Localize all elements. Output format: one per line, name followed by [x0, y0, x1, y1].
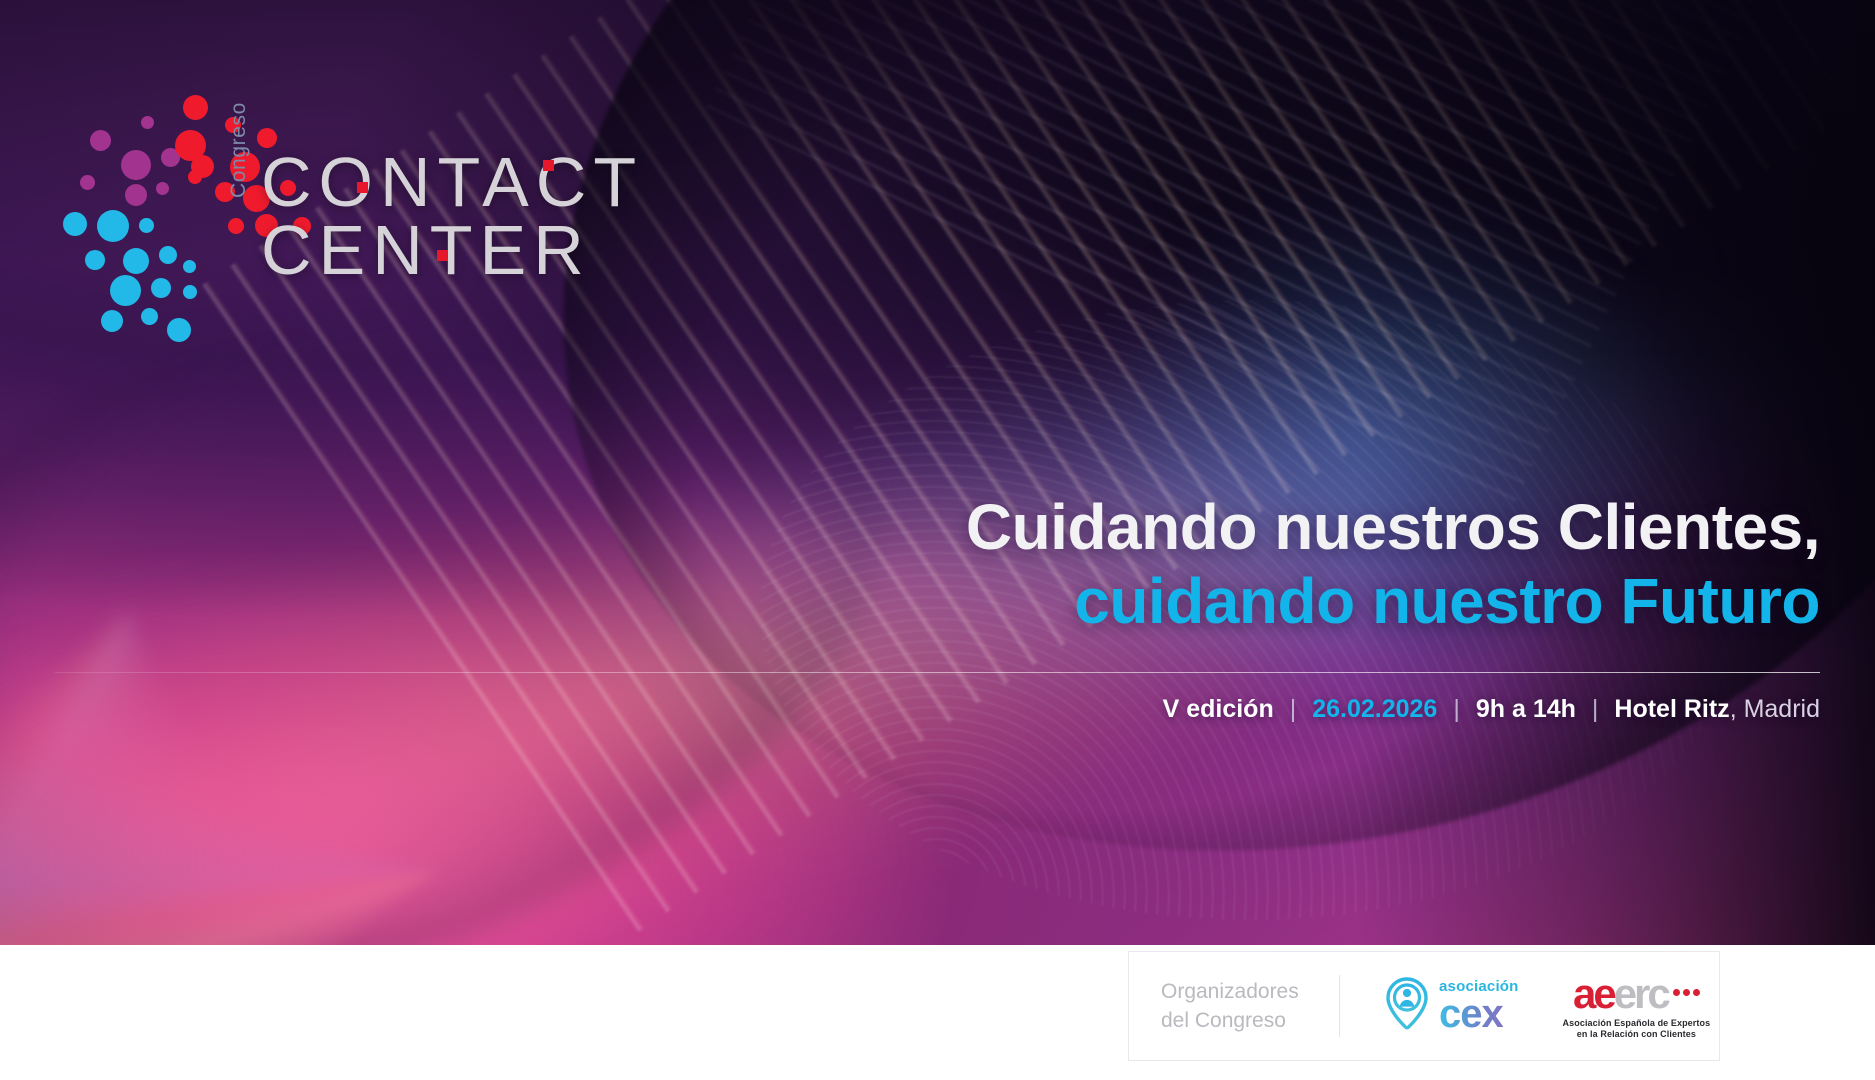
headline-line-1: Cuidando nuestros Clientes,	[760, 490, 1820, 564]
brand-logo[interactable]: Congreso CONTACT CENTER	[55, 70, 655, 335]
event-city: , Madrid	[1730, 695, 1820, 724]
brand-red-dot-icon	[437, 250, 448, 261]
aeerc-dots-icon	[1673, 989, 1700, 996]
brand-wordmark-line1: CONTACT	[261, 152, 643, 212]
hero-banner: Congreso CONTACT CENTER Cuidando nuestro…	[0, 0, 1875, 945]
aeerc-subtitle-line2: en la Relación con Clientes	[1563, 1029, 1711, 1040]
poster-page: Congreso CONTACT CENTER Cuidando nuestro…	[0, 0, 1875, 1080]
brand-red-dot-icon	[357, 182, 368, 193]
event-edition: V edición	[1163, 695, 1274, 724]
organizers-label-line1: Organizadores	[1161, 977, 1339, 1006]
cex-logo[interactable]: asociación cex	[1384, 977, 1519, 1036]
organizers-box: Organizadores del Congreso	[1128, 951, 1720, 1061]
event-venue: Hotel Ritz	[1614, 695, 1729, 724]
brand-red-dot-icon	[543, 160, 554, 171]
aeerc-wordmark: ae erc	[1573, 973, 1700, 1015]
aeerc-word-red: ae	[1573, 973, 1614, 1015]
aeerc-logo[interactable]: ae erc Asociación Española de Expertos e…	[1563, 973, 1711, 1040]
organizers-label-line2: del Congreso	[1161, 1006, 1339, 1035]
organizer-logo-list: asociación cex ae erc Asociación Españo	[1340, 973, 1719, 1040]
organizers-label: Organizadores del Congreso	[1129, 977, 1339, 1035]
brand-wordmark: CONTACT CENTER	[261, 152, 643, 280]
aeerc-subtitle: Asociación Española de Expertos en la Re…	[1563, 1018, 1711, 1040]
aeerc-word-grey: erc	[1614, 973, 1668, 1015]
brand-kicker: Congreso	[227, 102, 251, 198]
brand-wordmark-line2: CENTER	[261, 220, 643, 280]
event-details: V edición | 26.02.2026 | 9h a 14h | Hote…	[1163, 695, 1820, 724]
hero-headline: Cuidando nuestros Clientes, cuidando nue…	[760, 490, 1820, 638]
cex-word: cex	[1439, 995, 1519, 1033]
cex-wordmark: asociación cex	[1439, 979, 1519, 1033]
event-time: 9h a 14h	[1476, 695, 1576, 724]
meta-separator: |	[1274, 695, 1313, 724]
headline-divider	[55, 672, 1820, 673]
aeerc-subtitle-line1: Asociación Española de Expertos	[1563, 1018, 1711, 1029]
location-pin-person-icon	[1384, 977, 1430, 1036]
meta-separator: |	[1437, 695, 1476, 724]
meta-separator: |	[1576, 695, 1615, 724]
footer: Organizadores del Congreso	[0, 945, 1875, 1080]
event-date: 26.02.2026	[1312, 695, 1437, 724]
headline-line-2: cuidando nuestro Futuro	[760, 564, 1820, 638]
